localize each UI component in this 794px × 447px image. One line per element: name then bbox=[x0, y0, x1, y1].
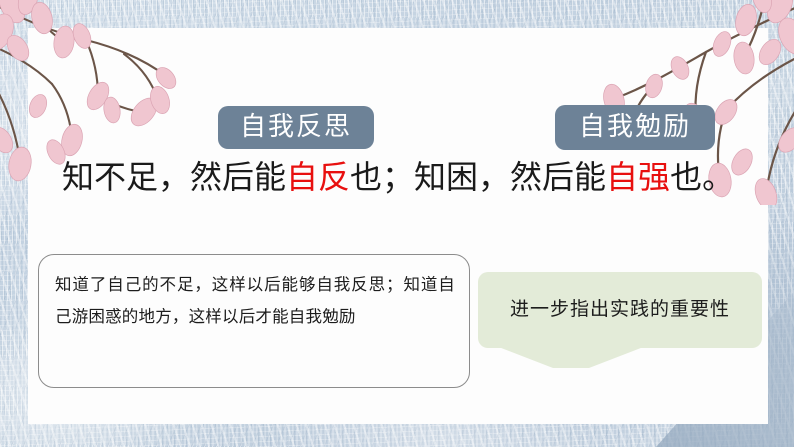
quote-segment-2: 也；知困，然后能 bbox=[350, 158, 606, 196]
explanation-box: 知道了自己的不足，这样以后能够自我反思；知道自己游困惑的地方，这样以后才能自我勉… bbox=[38, 254, 470, 388]
badge-self-encouragement: 自我勉励 bbox=[555, 105, 715, 150]
quote-segment-1: 知不足，然后能 bbox=[62, 158, 286, 196]
green-callout: 进一步指出实践的重要性 bbox=[478, 272, 762, 377]
green-callout-text: 进一步指出实践的重要性 bbox=[510, 300, 730, 321]
green-callout-tail-icon bbox=[496, 346, 646, 368]
green-callout-body: 进一步指出实践的重要性 bbox=[478, 272, 762, 348]
quote-highlight-1: 自反 bbox=[286, 158, 350, 196]
quote-segment-3: 也。 bbox=[670, 158, 734, 196]
quote-highlight-2: 自强 bbox=[606, 158, 670, 196]
presentation-slide: 自我反思 自我勉励 知不足，然后能自反也；知困，然后能自强也。 知道了自己的不足… bbox=[0, 0, 794, 447]
explanation-text: 知道了自己的不足，这样以后能够自我反思；知道自己游困惑的地方，这样以后才能自我勉… bbox=[55, 269, 455, 333]
badge-self-reflection: 自我反思 bbox=[218, 106, 374, 149]
badge-self-encouragement-label: 自我勉励 bbox=[579, 114, 691, 140]
badge-self-reflection-label: 自我反思 bbox=[240, 114, 352, 140]
main-quote: 知不足，然后能自反也；知困，然后能自强也。 bbox=[62, 157, 732, 197]
